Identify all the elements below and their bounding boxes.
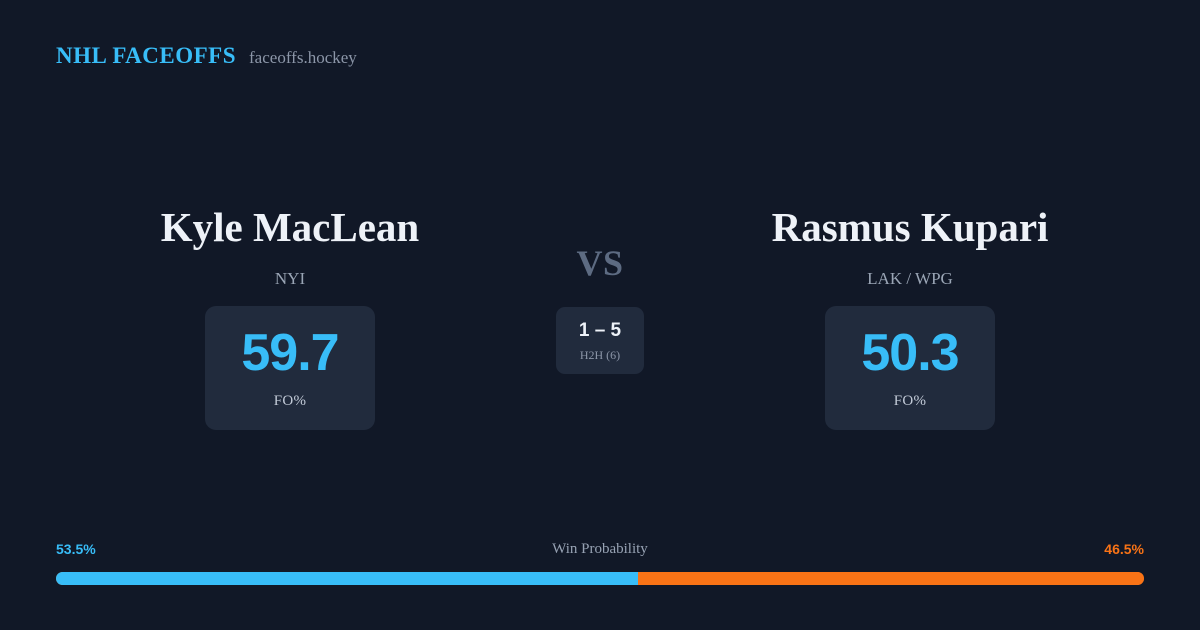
faceoff-pct-value-home: 59.7 <box>241 327 338 379</box>
stat-card-away: 50.3 FO% <box>825 306 995 430</box>
stat-card-home: 59.7 FO% <box>205 306 375 430</box>
win-probability-section: 53.5% Win Probability 46.5% <box>56 540 1144 585</box>
graphic-canvas: NHL FACEOFFS faceoffs.hockey Kyle MacLea… <box>0 0 1200 630</box>
player-name-away: Rasmus Kupari <box>772 207 1049 248</box>
faceoff-pct-label-away: FO% <box>894 394 927 409</box>
win-probability-bar-away <box>638 572 1144 585</box>
brand-site-label: faceoffs.hockey <box>249 49 357 66</box>
player-card-away: Rasmus Kupari LAK / WPG 50.3 FO% <box>680 185 1140 430</box>
player-card-home: Kyle MacLean NYI 59.7 FO% <box>60 185 520 430</box>
win-probability-bar <box>56 572 1144 585</box>
head-to-head-score: 1 – 5 <box>579 321 621 340</box>
win-probability-bar-home <box>56 572 638 585</box>
win-probability-title: Win Probability <box>56 540 1144 558</box>
faceoff-pct-label-home: FO% <box>274 394 307 409</box>
matchup-section: Kyle MacLean NYI 59.7 FO% VS 1 – 5 H2H (… <box>0 185 1200 435</box>
header: NHL FACEOFFS faceoffs.hockey <box>56 44 357 67</box>
player-team-home: NYI <box>275 270 305 287</box>
head-to-head-card: 1 – 5 H2H (6) <box>556 307 644 374</box>
win-probability-labels: 53.5% Win Probability 46.5% <box>56 540 1144 558</box>
player-name-home: Kyle MacLean <box>161 207 419 248</box>
faceoff-pct-value-away: 50.3 <box>861 327 958 379</box>
head-to-head-label: H2H (6) <box>580 349 620 361</box>
versus-column: VS 1 – 5 H2H (6) <box>500 185 700 374</box>
versus-label: VS <box>576 245 623 281</box>
win-probability-away-pct: 46.5% <box>1104 540 1144 558</box>
brand-title: NHL FACEOFFS <box>56 44 236 67</box>
player-team-away: LAK / WPG <box>867 270 953 287</box>
